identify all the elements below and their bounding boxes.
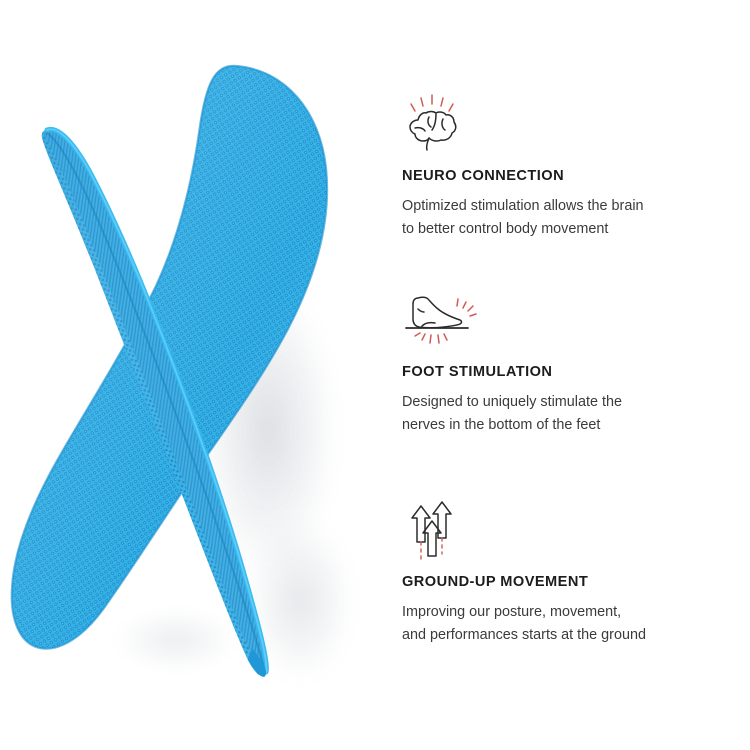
feature-desc-line: and performances starts at the ground bbox=[402, 624, 732, 647]
foot-sparks bbox=[415, 299, 476, 343]
feature-block-neuro-connection: NEURO CONNECTION Optimized stimulation a… bbox=[402, 92, 732, 241]
feature-title-foot-stimulation: FOOT STIMULATION bbox=[402, 364, 732, 382]
brain-icon bbox=[402, 92, 732, 154]
upward-arrows-icon bbox=[402, 498, 732, 560]
feature-desc-line: Designed to uniquely stimulate the bbox=[402, 391, 732, 414]
arrow-outlines bbox=[412, 502, 451, 556]
feature-desc-foot-stimulation: Designed to uniquely stimulate the nerve… bbox=[402, 391, 732, 438]
feature-title-ground-up-movement: GROUND-UP MOVEMENT bbox=[402, 574, 732, 592]
feature-desc-line: nerves in the bottom of the feet bbox=[402, 414, 732, 437]
foot-outline bbox=[413, 297, 462, 327]
feature-desc-ground-up-movement: Improving our posture, movement, and per… bbox=[402, 601, 732, 648]
brain-rays bbox=[411, 95, 453, 111]
product-image bbox=[0, 0, 390, 750]
feature-list: NEURO CONNECTION Optimized stimulation a… bbox=[402, 0, 750, 750]
feature-desc-line: to better control body movement bbox=[402, 218, 732, 241]
feature-block-foot-stimulation: FOOT STIMULATION Designed to uniquely st… bbox=[402, 288, 732, 437]
infographic-canvas: NEURO CONNECTION Optimized stimulation a… bbox=[0, 0, 750, 750]
brain-outline bbox=[410, 112, 456, 151]
feature-desc-neuro-connection: Optimized stimulation allows the brain t… bbox=[402, 195, 732, 242]
feature-block-ground-up-movement: GROUND-UP MOVEMENT Improving our posture… bbox=[402, 498, 732, 647]
feature-desc-line: Optimized stimulation allows the brain bbox=[402, 195, 732, 218]
feature-desc-line: Improving our posture, movement, bbox=[402, 601, 732, 624]
feature-title-neuro-connection: NEURO CONNECTION bbox=[402, 168, 732, 186]
foot-stimulation-icon bbox=[402, 288, 732, 350]
